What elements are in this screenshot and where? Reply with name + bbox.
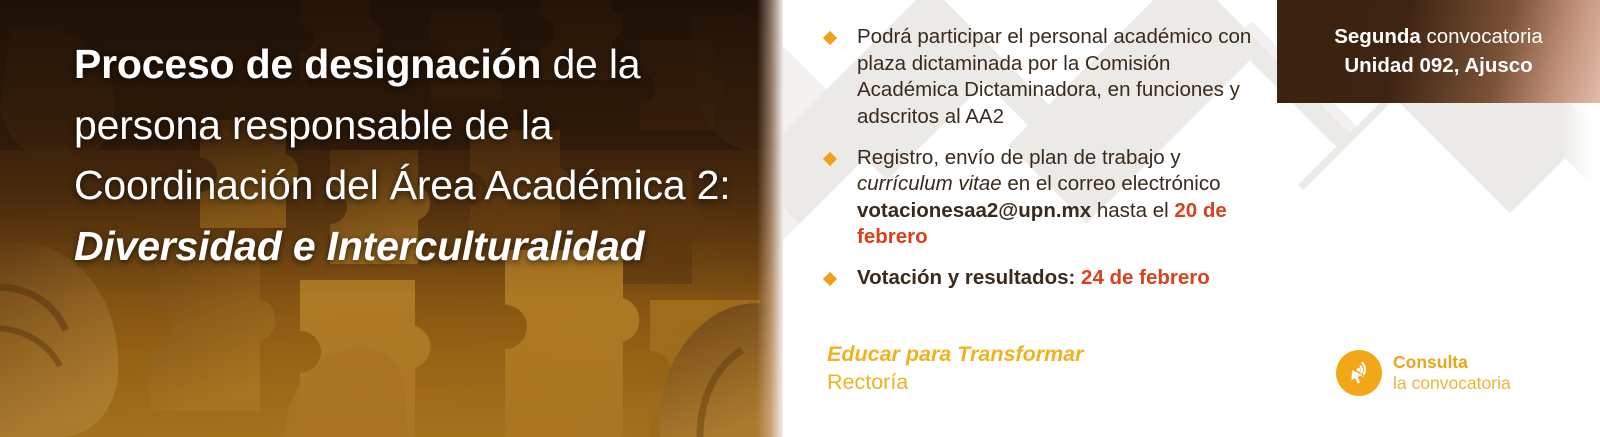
- badge-bold-word: Segunda: [1334, 25, 1421, 48]
- headline-bold-part: Proceso de designación: [74, 41, 541, 87]
- list-item-seg-3: en el correo electrónico: [1002, 172, 1221, 195]
- badge-line-two: Unidad 092, Ajusco: [1344, 52, 1532, 80]
- consult-call-to-action[interactable]: Consulta la convocatoria: [1336, 350, 1511, 396]
- puzzle-hands-photo: Proceso de designación de la persona res…: [0, 0, 783, 437]
- badge-rest-word: convocatoria: [1421, 25, 1543, 48]
- list-item: Registro, envío de plan de trabajo y cur…: [824, 145, 1264, 252]
- click-cursor-icon[interactable]: [1336, 350, 1382, 396]
- list-item: Votación y resultados: 24 de febrero: [824, 265, 1264, 292]
- diamond-bullet-icon: [823, 31, 837, 45]
- email-address[interactable]: votacionesaa2@upn.mx: [857, 199, 1091, 222]
- page-title: Proceso de designación de la persona res…: [74, 34, 746, 277]
- list-item-seg-5: hasta el: [1091, 199, 1174, 222]
- cta-line-one: Consulta: [1393, 352, 1511, 373]
- diamond-bullet-icon: [823, 151, 837, 165]
- issuer-text: Rectoría: [827, 368, 1084, 396]
- signature-block: Educar para Transformar Rectoría: [827, 340, 1084, 397]
- cta-text-block: Consulta la convocatoria: [1393, 352, 1511, 395]
- voting-date: 24 de febrero: [1075, 266, 1209, 289]
- list-item-text: Podrá participar el personal académico c…: [857, 25, 1251, 128]
- voting-label: Votación y resultados:: [857, 266, 1075, 289]
- status-badge: Segunda convocatoria Unidad 092, Ajusco: [1277, 0, 1600, 103]
- headline-italic-part: Diversidad e Interculturalidad: [74, 223, 644, 269]
- banner-root: Proceso de designación de la persona res…: [0, 0, 1600, 437]
- requirements-list: Podrá participar el personal académico c…: [824, 24, 1264, 292]
- list-item: Podrá participar el personal académico c…: [824, 24, 1264, 131]
- slogan-text: Educar para Transformar: [827, 340, 1084, 368]
- click-cursor-glyph: [1344, 358, 1374, 388]
- list-item-seg-italic: currículum vitae: [857, 172, 1002, 195]
- list-item-seg-1: Registro, envío de plan de trabajo y: [857, 146, 1181, 169]
- cta-line-two: la convocatoria: [1393, 373, 1511, 394]
- badge-line-one: Segunda convocatoria: [1334, 23, 1543, 51]
- diamond-bullet-icon: [823, 272, 837, 286]
